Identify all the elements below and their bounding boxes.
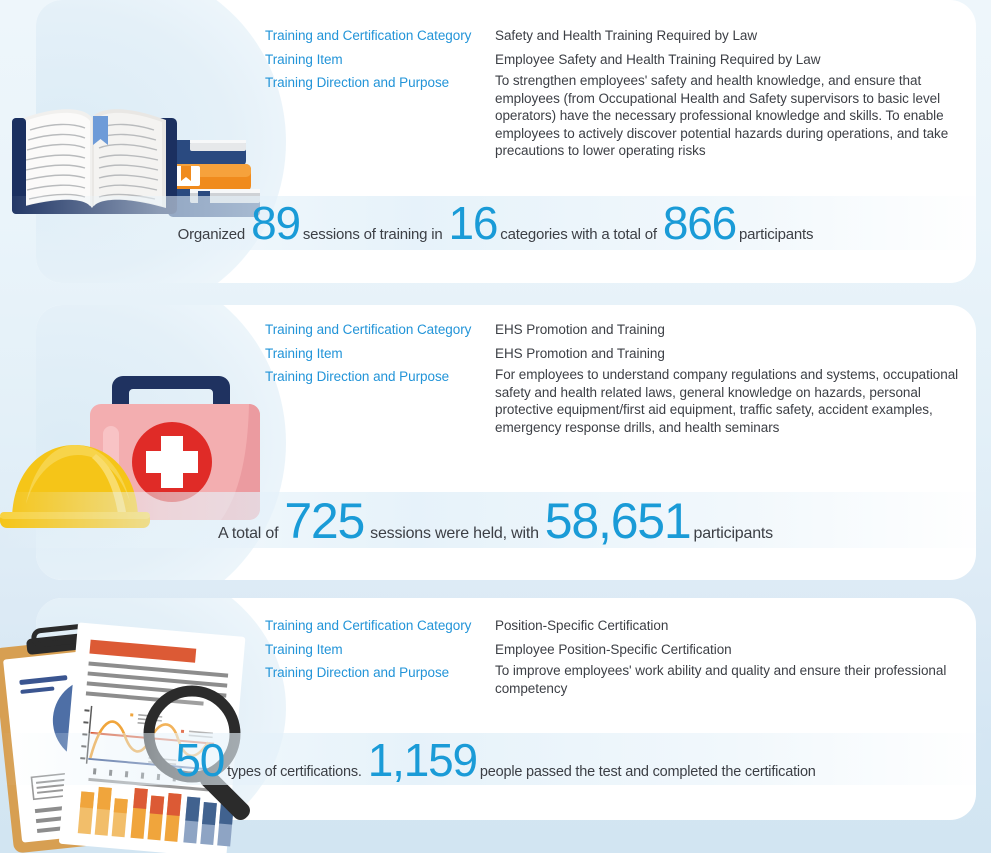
- detail-row-purpose: Training Direction and Purpose For emplo…: [265, 366, 973, 436]
- detail-row-category: Training and Certification Category Safe…: [265, 25, 973, 47]
- label-category: Training and Certification Category: [265, 319, 495, 341]
- stat-3-number-people: 1,159: [368, 733, 477, 787]
- stat-2-number-sessions: 725: [284, 492, 364, 550]
- value-purpose: For employees to understand company regu…: [495, 366, 973, 436]
- stat-3-number-types: 50: [175, 733, 224, 787]
- value-purpose: To improve employees' work ability and q…: [495, 662, 973, 697]
- detail-row-category: Training and Certification Category EHS …: [265, 319, 973, 341]
- training-details-3: Training and Certification Category Posi…: [265, 615, 973, 699]
- training-details-2: Training and Certification Category EHS …: [265, 319, 973, 438]
- stat-banner-2: A total of725sessions were held, with58,…: [0, 492, 991, 548]
- background-ellipse-3: [36, 598, 286, 820]
- label-category: Training and Certification Category: [265, 25, 495, 47]
- label-item: Training Item: [265, 639, 495, 661]
- stat-1-number-participants: 866: [663, 196, 736, 250]
- stat-banner-3: 50types of certifications.1,159people pa…: [0, 733, 991, 785]
- stat-2-prefix: A total of: [218, 525, 278, 543]
- label-purpose: Training Direction and Purpose: [265, 366, 495, 388]
- stat-1-prefix: Organized: [178, 226, 245, 243]
- value-item: EHS Promotion and Training: [495, 343, 973, 365]
- detail-row-category: Training and Certification Category Posi…: [265, 615, 973, 637]
- training-details-1: Training and Certification Category Safe…: [265, 25, 973, 162]
- stat-3-suffix: people passed the test and completed the…: [480, 764, 816, 780]
- value-item: Employee Position-Specific Certification: [495, 639, 973, 661]
- stat-1-number-categories: 16: [449, 196, 498, 250]
- detail-row-item: Training Item Employee Position-Specific…: [265, 639, 973, 661]
- label-purpose: Training Direction and Purpose: [265, 662, 495, 684]
- detail-row-purpose: Training Direction and Purpose To improv…: [265, 662, 973, 697]
- label-item: Training Item: [265, 343, 495, 365]
- detail-row-item: Training Item EHS Promotion and Training: [265, 343, 973, 365]
- stat-1-mid-1: sessions of training in: [303, 226, 443, 243]
- stat-1-mid-2: categories with a total of: [500, 226, 657, 243]
- stat-3-mid-1: types of certifications.: [227, 764, 362, 780]
- stat-banner-1: Organized89sessions of training in16cate…: [0, 196, 991, 250]
- value-category: Safety and Health Training Required by L…: [495, 25, 973, 47]
- value-category: EHS Promotion and Training: [495, 319, 973, 341]
- stat-2-suffix: participants: [694, 525, 773, 543]
- label-category: Training and Certification Category: [265, 615, 495, 637]
- stat-1-number-sessions: 89: [251, 196, 300, 250]
- stat-1-suffix: participants: [739, 226, 813, 243]
- stat-2-mid-1: sessions were held, with: [370, 525, 539, 543]
- value-purpose: To strengthen employees' safety and heal…: [495, 72, 973, 160]
- value-item: Employee Safety and Health Training Requ…: [495, 49, 973, 71]
- stat-2-number-participants: 58,651: [545, 492, 691, 550]
- label-purpose: Training Direction and Purpose: [265, 72, 495, 94]
- detail-row-item: Training Item Employee Safety and Health…: [265, 49, 973, 71]
- detail-row-purpose: Training Direction and Purpose To streng…: [265, 72, 973, 160]
- value-category: Position-Specific Certification: [495, 615, 973, 637]
- infographic-page: Training and Certification Category Safe…: [0, 0, 991, 853]
- label-item: Training Item: [265, 49, 495, 71]
